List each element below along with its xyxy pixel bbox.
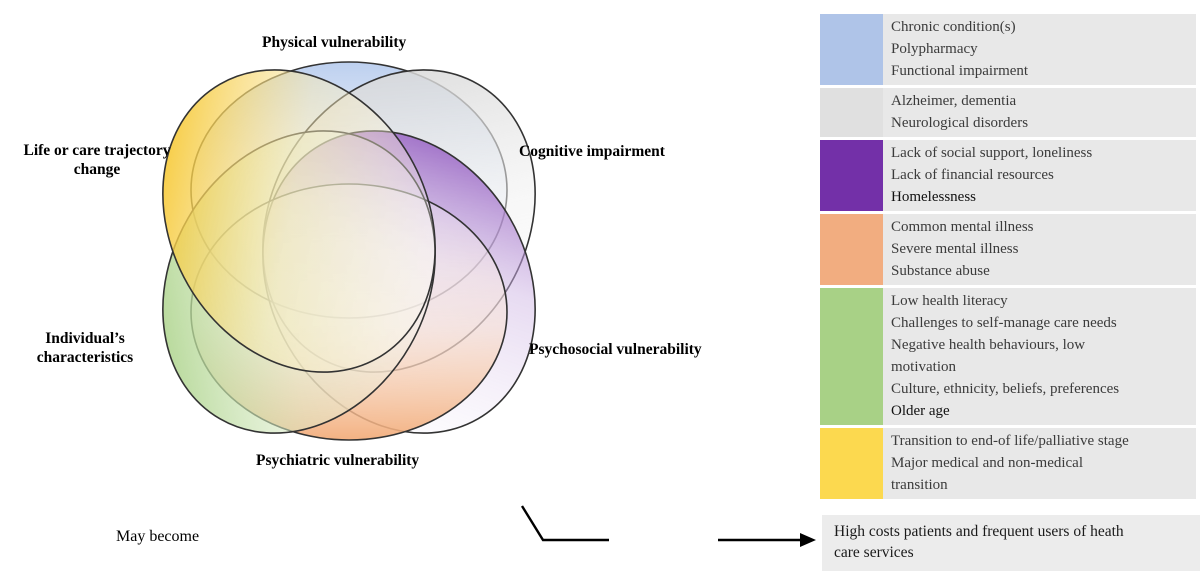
legend-row: Alzheimer, dementiaNeurological disorder… (820, 88, 1196, 137)
legend-line: Low health literacy (891, 290, 1190, 312)
legend-line: Challenges to self-manage care needs (891, 312, 1190, 334)
legend-text-psychiatric-vulnerability: Common mental illnessSevere mental illne… (883, 214, 1196, 285)
venn-diagram: Physical vulnerability Cognitive impairm… (0, 0, 780, 490)
legend-line: Homelessness (891, 186, 1190, 208)
outcome-box: High costs patients and frequent users o… (822, 515, 1200, 571)
legend-line: Chronic condition(s) (891, 16, 1190, 38)
arrow-head (800, 533, 816, 547)
legend-panel: Chronic condition(s)PolypharmacyFunction… (820, 14, 1196, 502)
legend-text-cognitive-impairment: Alzheimer, dementiaNeurological disorder… (883, 88, 1196, 137)
venn-label-psychiatric-vulnerability: Psychiatric vulnerability (256, 451, 419, 470)
legend-line: Neurological disorders (891, 112, 1190, 134)
legend-line: Alzheimer, dementia (891, 90, 1190, 112)
legend-row: Chronic condition(s)PolypharmacyFunction… (820, 14, 1196, 85)
may-become-label: May become (116, 528, 199, 546)
legend-swatch-individual-characteristics (820, 288, 883, 425)
legend-line: Substance abuse (891, 260, 1190, 282)
legend-row: Lack of social support, lonelinessLack o… (820, 140, 1196, 211)
legend-swatch-psychiatric-vulnerability (820, 214, 883, 285)
legend-line: Negative health behaviours, low (891, 334, 1190, 356)
legend-line: Major medical and non-medical (891, 452, 1190, 474)
legend-swatch-cognitive-impairment (820, 88, 883, 137)
venn-label-physical-vulnerability: Physical vulnerability (262, 33, 406, 52)
legend-swatch-physical-vulnerability (820, 14, 883, 85)
flow-section: High costs patients and frequent users o… (500, 492, 1200, 588)
legend-line: Culture, ethnicity, beliefs, preferences (891, 378, 1190, 400)
legend-line: Lack of social support, loneliness (891, 142, 1190, 164)
legend-swatch-psychosocial-vulnerability (820, 140, 883, 211)
legend-text-psychosocial-vulnerability: Lack of social support, lonelinessLack o… (883, 140, 1196, 211)
venn-label-life-care-trajectory-change: Life or care trajectory change (8, 141, 186, 179)
venn-diagram-svg (0, 0, 780, 490)
legend-swatch-life-care-trajectory-change (820, 428, 883, 499)
legend-line: Older age (891, 400, 1190, 422)
venn-label-individual-characteristics: Individual’s characteristics (18, 329, 152, 367)
legend-line: Severe mental illness (891, 238, 1190, 260)
legend-row: Low health literacyChallenges to self-ma… (820, 288, 1196, 425)
venn-label-cognitive-impairment: Cognitive impairment (519, 142, 665, 161)
legend-line: motivation (891, 356, 1190, 378)
outcome-line: care services (834, 542, 1190, 563)
legend-line: Polypharmacy (891, 38, 1190, 60)
outcome-line: High costs patients and frequent users o… (834, 521, 1190, 542)
legend-text-physical-vulnerability: Chronic condition(s)PolypharmacyFunction… (883, 14, 1196, 85)
legend-line: Functional impairment (891, 60, 1190, 82)
legend-row: Common mental illnessSevere mental illne… (820, 214, 1196, 285)
legend-row: Transition to end-of life/palliative sta… (820, 428, 1196, 499)
legend-line: Lack of financial resources (891, 164, 1190, 186)
elbow-connector-line (522, 506, 609, 540)
legend-text-life-care-trajectory-change: Transition to end-of life/palliative sta… (883, 428, 1196, 499)
legend-text-individual-characteristics: Low health literacyChallenges to self-ma… (883, 288, 1196, 425)
venn-label-psychosocial-vulnerability: Psychosocial vulnerability (529, 340, 702, 359)
legend-line: Common mental illness (891, 216, 1190, 238)
legend-line: Transition to end-of life/palliative sta… (891, 430, 1190, 452)
